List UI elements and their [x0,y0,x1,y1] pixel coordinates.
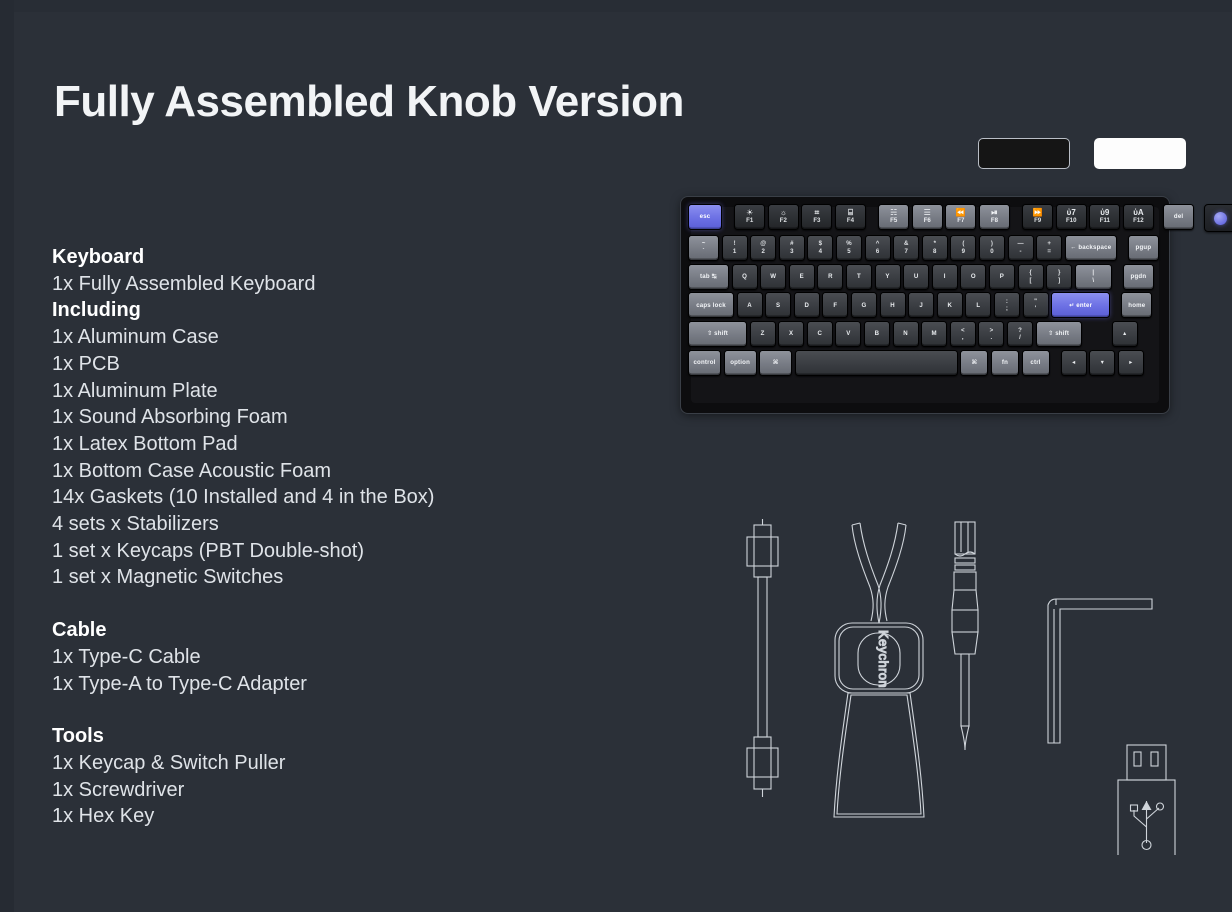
key-legend-top: ) [991,240,993,248]
key-caps-lock[interactable]: caps lock [688,292,734,318]
key-0[interactable]: )0 [979,235,1005,261]
key-w[interactable]: W [760,264,786,290]
key-glyph-icon: ⌸ [848,209,853,217]
key-j[interactable]: J [908,292,934,318]
type-c-cable-icon [747,519,778,797]
key-legend-bottom: F5 [890,217,897,225]
key-label: esc [700,213,711,221]
key-option[interactable]: option [724,350,757,376]
key-label: pgup [1136,244,1152,252]
key-2[interactable]: @2 [750,235,776,261]
rotary-knob[interactable] [1204,204,1232,232]
key-space[interactable] [795,350,958,376]
key-8[interactable]: *8 [922,235,948,261]
key-label: ↵ enter [1069,302,1092,310]
key-g[interactable]: G [851,292,877,318]
key-legend-bottom: = [1047,248,1051,256]
key-r[interactable]: R [817,264,843,290]
section-item: 4 sets x Stabilizers [52,511,612,538]
key-3[interactable]: #3 [779,235,805,261]
key-space[interactable]: ⌘ [960,350,988,376]
key-label: X [789,330,793,338]
key-legend-bottom: F12 [1133,217,1144,225]
key-tab[interactable]: tab ↹ [688,264,729,290]
key-6[interactable]: ^6 [865,235,891,261]
key-enter[interactable]: ↵ enter [1051,292,1110,318]
key-label: D [804,302,809,310]
key-legend-bottom: . [990,334,992,342]
key-label: ⌘ [971,359,977,367]
key-n[interactable]: N [893,321,919,347]
key-label: H [890,302,895,310]
key-shift[interactable]: ⇧ shift [1036,321,1082,347]
key-legend-bottom: ; [1006,305,1008,313]
section-item: 1x Bottom Case Acoustic Foam [52,458,612,485]
key-c[interactable]: C [807,321,833,347]
key-label: E [800,273,804,281]
key-k[interactable]: K [937,292,963,318]
slide-canvas: Fully Assembled Knob Version Keyboard1x … [0,0,1232,912]
key-label: del [1174,213,1183,221]
key-legend-bottom: ' [1035,305,1036,313]
key-l[interactable]: L [965,292,991,318]
usb-trident-glyph [1131,801,1164,850]
key-glyph-icon: ☼ [780,209,787,217]
key-pgup[interactable]: pgup [1128,235,1159,261]
key-y[interactable]: Y [875,264,901,290]
key-label: pgdn [1131,273,1147,281]
section-item: 14x Gaskets (10 Installed and 4 in the B… [52,484,612,511]
keyboard-row-tab-row: tab ↹QWERTYUIOP{[}]|\pgdn [688,264,1232,290]
key-fn[interactable]: fn [991,350,1019,376]
key-legend-top: ~ [702,240,706,248]
key-t[interactable]: T [846,264,872,290]
key-label: ← backspace [1070,244,1111,252]
key-del[interactable]: del [1163,204,1194,230]
key-label: ctrl [1030,359,1040,367]
key-legend-top: — [1017,240,1023,248]
key-legend-bottom: \ [1092,277,1094,285]
key-label: ⇧ shift [707,330,728,338]
key-legend-bottom: F7 [957,217,964,225]
key-legend-top: ? [1018,327,1022,335]
key-ctrl[interactable]: ctrl [1022,350,1050,376]
section-item: 1x Sound Absorbing Foam [52,404,612,431]
key-legend-bottom: ` [702,248,704,256]
key-shift[interactable]: ⇧ shift [688,321,747,347]
key-space[interactable]: }] [1046,264,1072,290]
key-label: option [730,359,750,367]
key-a[interactable]: A [737,292,763,318]
key-legend-bottom: 2 [761,248,764,256]
key-f3[interactable]: ⌗F3 [801,204,832,230]
key-space[interactable]: :; [994,292,1020,318]
key-glyph-icon: ⏪ [956,209,966,217]
page-title: Fully Assembled Knob Version [54,80,684,124]
key-label: M [932,330,937,338]
key-d[interactable]: D [794,292,820,318]
key-legend-top: | [1092,269,1094,277]
key-f6[interactable]: ☰F6 [912,204,943,230]
section-item: 1x Type-A to Type-C Adapter [52,671,612,698]
key-legend-bottom: F9 [1034,217,1041,225]
key-legend-top: ^ [876,240,880,248]
section-item: 1x Latex Bottom Pad [52,431,612,458]
key-label: ▴ [1123,330,1126,338]
key-legend-bottom: 1 [733,248,736,256]
key-1[interactable]: !1 [722,235,748,261]
key-label: tab ↹ [700,273,717,281]
section-heading: Keyboard [52,244,612,271]
key-legend-top: " [1034,298,1037,306]
key-legend-top: > [990,327,994,335]
color-option-black[interactable] [978,138,1070,169]
key-label: P [1000,273,1004,281]
key-label: T [857,273,861,281]
key-label: G [861,302,866,310]
key-label: ◂ [1072,359,1075,367]
key-label: B [875,330,880,338]
key-legend-bottom: / [1019,334,1021,342]
key-5[interactable]: %5 [836,235,862,261]
key-legend-bottom: - [1020,248,1022,256]
key-o[interactable]: O [960,264,986,290]
key-legend-bottom: F6 [924,217,931,225]
section-item: 1x Aluminum Plate [52,378,612,405]
key-label: I [944,273,946,281]
key-4[interactable]: $4 [807,235,833,261]
screwdriver-icon [952,522,978,750]
key-f5[interactable]: ☵F5 [878,204,909,230]
key-control[interactable]: control [688,350,721,376]
key-legend-top: } [1058,269,1060,277]
key-legend-top: ! [734,240,736,248]
section-heading: Tools [52,723,612,750]
color-option-group [978,138,1186,169]
key-f10[interactable]: ὐ7F10 [1056,204,1087,230]
key-legend-bottom: 3 [790,248,793,256]
key-legend-bottom: 6 [876,248,879,256]
key-legend-bottom: 8 [933,248,936,256]
key-legend-bottom: 7 [904,248,907,256]
key-legend-bottom: 5 [847,248,850,256]
key-i[interactable]: I [932,264,958,290]
key-f9[interactable]: ⏩F9 [1022,204,1053,230]
key-label: F [833,302,837,310]
key-label: K [947,302,952,310]
svg-text:Keychron: Keychron [876,630,891,688]
key-f7[interactable]: ⏪F7 [945,204,976,230]
key-space[interactable]: —- [1008,235,1034,261]
keyboard-row-bottom-row: controloption⌘⌘fnctrl◂▾▸ [688,350,1232,376]
key-space[interactable]: += [1036,235,1062,261]
key-label: ▸ [1129,359,1132,367]
key-z[interactable]: Z [750,321,776,347]
key-label: Y [885,273,889,281]
key-legend-bottom: F8 [991,217,998,225]
section-item: 1x Fully Assembled Keyboard [52,271,612,298]
key-q[interactable]: Q [732,264,758,290]
key-space[interactable]: {[ [1018,264,1044,290]
key-legend-top: # [790,240,793,248]
key-legend-bottom: [ [1030,277,1032,285]
key-u[interactable]: U [903,264,929,290]
key-f8[interactable]: ⏯F8 [979,204,1010,230]
key-b[interactable]: B [864,321,890,347]
accessory-illustrations: Keychron [730,505,1200,855]
section-spacer [52,697,612,723]
key-label: U [914,273,919,281]
key-space[interactable]: ▾ [1089,350,1115,376]
key-7[interactable]: &7 [893,235,919,261]
key-legend-bottom: F11 [1100,217,1110,225]
key-glyph-icon: ☰ [924,209,931,217]
key-p[interactable]: P [989,264,1015,290]
section-heading: Including [52,297,612,324]
keyboard-row-number-row: ~`!1@2#3$4%5^6&7*8(9)0—-+=← backspacepgu… [688,235,1232,261]
keyboard-row-shift-row: ⇧ shiftZXCVBNM<,>.?/⇧ shift▴ [688,321,1232,347]
key-legend-bottom: F1 [746,217,753,225]
key-legend-bottom: F2 [780,217,787,225]
key-label: N [903,330,908,338]
key-h[interactable]: H [880,292,906,318]
key-space[interactable]: ⌘ [759,350,792,376]
key-home[interactable]: home [1121,292,1152,318]
keyboard-row-function-row: esc☀F1☼F2⌗F3⌸F4☵F5☰F6⏪F7⏯F8⏩F9ὐ7F10ὐ9F11… [688,204,1232,232]
key-legend-top: @ [760,240,766,248]
key-space[interactable]: ~` [688,235,719,261]
section-item: 1 set x Magnetic Switches [52,564,612,591]
key-glyph-icon: ὐA [1133,209,1143,217]
section-heading: Cable [52,617,612,644]
key-legend-bottom: 4 [819,248,822,256]
key-space[interactable]: <, [950,321,976,347]
key-label: caps lock [696,302,726,310]
key-legend-top: { [1029,269,1031,277]
keyboard-image: esc☀F1☼F2⌗F3⌸F4☵F5☰F6⏪F7⏯F8⏩F9ὐ7F10ὐ9F11… [681,197,1169,413]
key-label: C [817,330,822,338]
section-item: 1x Hex Key [52,803,612,830]
section-item: 1x Keycap & Switch Puller [52,750,612,777]
key-legend-bottom: 0 [990,248,993,256]
key-label: W [770,273,776,281]
key-label: Z [761,330,765,338]
key-s[interactable]: S [765,292,791,318]
key-space[interactable]: ▴ [1112,321,1138,347]
section-item: 1x PCB [52,351,612,378]
key-label: fn [1002,359,1008,367]
key-label: A [747,302,752,310]
key-label: L [976,302,980,310]
section-item: 1x Aluminum Case [52,324,612,351]
key-legend-top: & [904,240,908,248]
key-label: ▾ [1101,359,1104,367]
top-edge-band [0,0,1232,12]
hex-key-icon [1048,599,1152,743]
key-space[interactable]: "' [1023,292,1049,318]
key-m[interactable]: M [921,321,947,347]
key-label: V [846,330,850,338]
section-spacer [52,591,612,617]
key-label: home [1128,302,1145,310]
key-legend-top: : [1006,298,1008,306]
key-glyph-icon: ☵ [890,209,897,217]
key-legend-bottom: F4 [847,217,854,225]
keyboard-row-home-row: caps lockASDFGHJKL:;"'↵ enterhome [688,292,1232,318]
key-v[interactable]: V [835,321,861,347]
keyboard-key-grid: esc☀F1☼F2⌗F3⌸F4☵F5☰F6⏪F7⏯F8⏩F9ὐ7F10ὐ9F11… [688,204,1232,379]
key-legend-top: * [934,240,936,248]
key-glyph-icon: ☀ [746,209,753,217]
key-label: R [828,273,833,281]
key-legend-bottom: 9 [962,248,965,256]
key-space[interactable]: ◂ [1061,350,1087,376]
key-label: S [776,302,780,310]
knob-cap [1214,212,1227,225]
key-pgdn[interactable]: pgdn [1123,264,1154,290]
key-backspace[interactable]: ← backspace [1065,235,1117,261]
usb-adapter-icon [1118,745,1175,855]
key-f4[interactable]: ⌸F4 [835,204,866,230]
key-space[interactable]: |\ [1075,264,1112,290]
section-item: 1x Screwdriver [52,777,612,804]
key-glyph-icon: ὐ7 [1067,209,1076,217]
keycap-switch-puller-icon: Keychron [834,523,924,817]
key-legend-bottom: F3 [813,217,820,225]
key-legend-bottom: F10 [1066,217,1077,225]
key-f1[interactable]: ☀F1 [734,204,765,230]
section-item: 1x Type-C Cable [52,644,612,671]
key-esc[interactable]: esc [688,204,722,230]
key-legend-top: ( [962,240,964,248]
key-label: ⇧ shift [1048,330,1069,338]
key-e[interactable]: E [789,264,815,290]
key-glyph-icon: ⏩ [1033,209,1043,217]
section-item: 1 set x Keycaps (PBT Double-shot) [52,538,612,565]
key-x[interactable]: X [778,321,804,347]
key-label: Q [742,273,747,281]
contents-list: Keyboard1x Fully Assembled KeyboardInclu… [52,244,612,830]
key-legend-bottom: ] [1058,277,1060,285]
key-9[interactable]: (9 [950,235,976,261]
key-legend-bottom: , [962,334,964,342]
key-space[interactable]: ▸ [1118,350,1144,376]
key-label: O [971,273,976,281]
key-legend-top: + [1047,240,1051,248]
left-edge-band [0,0,14,912]
key-f12[interactable]: ὐAF12 [1123,204,1154,230]
key-legend-top: $ [819,240,822,248]
key-label: J [919,302,923,310]
color-option-white[interactable] [1094,138,1186,169]
key-label: control [693,359,715,367]
key-glyph-icon: ὐ9 [1100,209,1109,217]
key-glyph-icon: ⏯ [991,209,997,217]
key-f2[interactable]: ☼F2 [768,204,799,230]
key-f11[interactable]: ὐ9F11 [1089,204,1120,230]
key-glyph-icon: ⌗ [815,209,820,217]
key-label: ⌘ [773,359,779,367]
key-space[interactable]: >. [978,321,1004,347]
key-legend-top: % [846,240,851,248]
key-space[interactable]: ?/ [1007,321,1033,347]
key-legend-top: < [961,327,965,335]
key-f[interactable]: F [822,292,848,318]
